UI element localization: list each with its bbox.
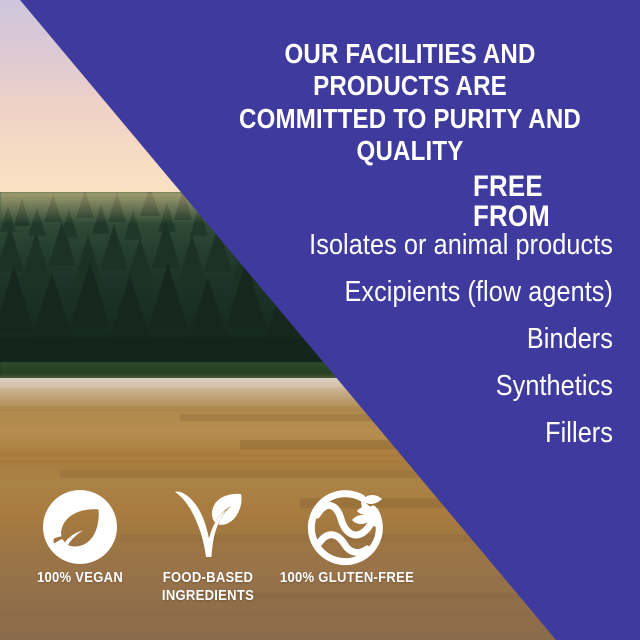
free-from-list: Isolates or animal products Excipients (… — [183, 222, 613, 457]
certification-badges: 100% VEGAN FOOD-BASED INGREDIENTS — [0, 484, 440, 614]
list-item: Excipients (flow agents) — [239, 269, 613, 316]
wheat-crossed-circle-icon — [305, 485, 389, 569]
list-item: Binders — [239, 316, 613, 363]
badge-gluten-free-caption: 100% GLUTEN-FREE — [280, 570, 415, 588]
list-item: Synthetics — [239, 363, 613, 410]
badge-food-based-art — [133, 484, 283, 570]
badge-gluten-free: 100% GLUTEN-FREE — [272, 484, 422, 588]
promotional-poster: OUR FACILITIES AND PRODUCTS ARE COMMITTE… — [0, 0, 640, 640]
badge-food-based-caption: FOOD-BASED INGREDIENTS — [141, 570, 276, 605]
list-item: Isolates or animal products — [239, 222, 613, 269]
badge-vegan-caption: 100% VEGAN — [13, 570, 148, 588]
sprout-v-leaf-icon — [166, 485, 250, 569]
list-item: Fillers — [239, 410, 613, 457]
badge-food-based: FOOD-BASED INGREDIENTS — [133, 484, 283, 605]
badge-gluten-free-art — [272, 484, 422, 570]
page-title: OUR FACILITIES AND PRODUCTS ARE COMMITTE… — [234, 38, 587, 168]
leaf-in-circle-icon — [41, 488, 119, 566]
